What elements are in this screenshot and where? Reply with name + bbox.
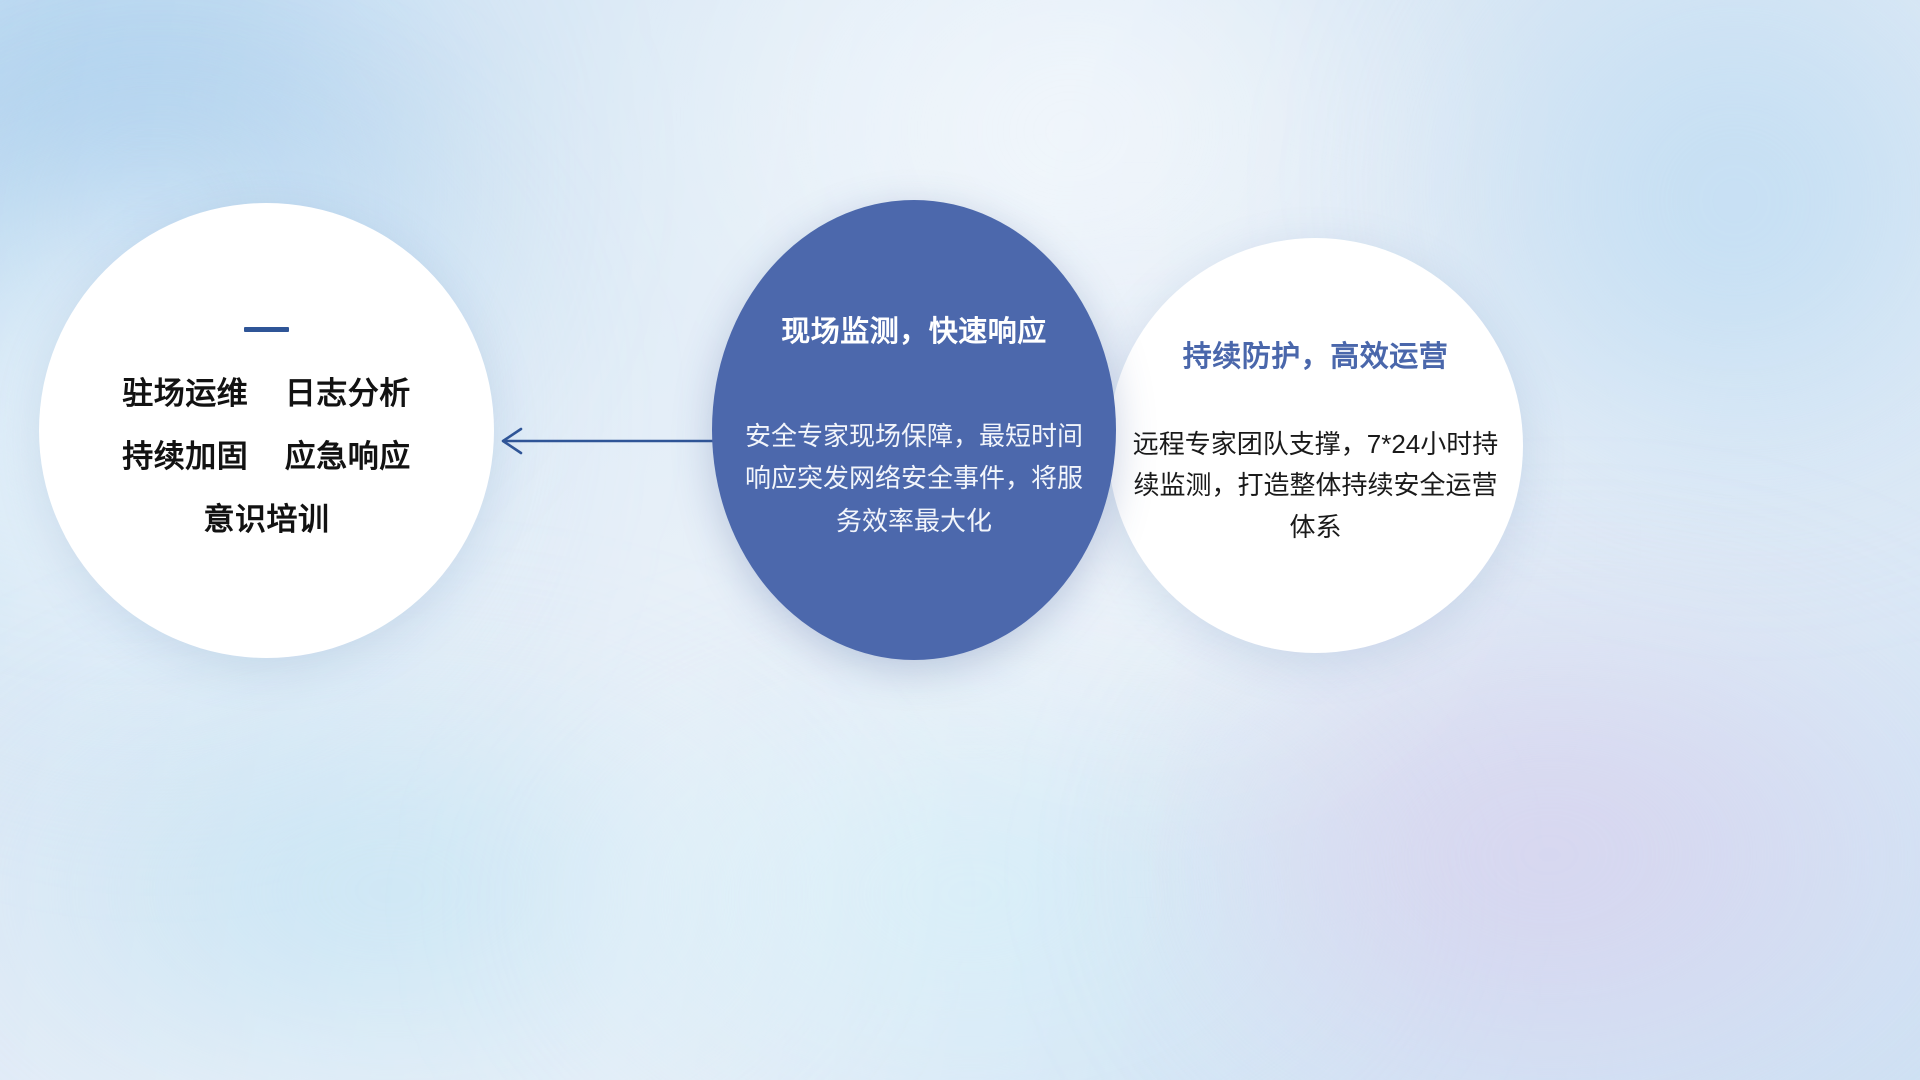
capabilities-content: 驻场运维 日志分析 持续加固 应急响应 意识培训 bbox=[39, 327, 494, 535]
diagram-stage: 驻场运维 日志分析 持续加固 应急响应 意识培训 持续防护，高效运营 远程专家团… bbox=[0, 0, 1920, 1080]
onsite-monitoring-title: 现场监测，快速响应 bbox=[738, 318, 1090, 347]
arrow-left-icon bbox=[488, 418, 718, 464]
continuous-operations-circle[interactable]: 持续防护，高效运营 远程专家团队支撑，7*24小时持续监测，打造整体持续安全运营… bbox=[1108, 238, 1523, 653]
capability-line-1: 驻场运维 日志分析 bbox=[77, 378, 456, 409]
capability-line-3: 意识培训 bbox=[77, 504, 456, 535]
capability-line-2: 持续加固 应急响应 bbox=[77, 441, 456, 472]
continuous-operations-content: 持续防护，高效运营 远程专家团队支撑，7*24小时持续监测，打造整体持续安全运营… bbox=[1108, 343, 1523, 547]
onsite-monitoring-content: 现场监测，快速响应 安全专家现场保障，最短时间响应突发网络安全事件，将服务效率最… bbox=[712, 318, 1116, 541]
capabilities-circle[interactable]: 驻场运维 日志分析 持续加固 应急响应 意识培训 bbox=[39, 203, 494, 658]
onsite-monitoring-body: 安全专家现场保障，最短时间响应突发网络安全事件，将服务效率最大化 bbox=[738, 415, 1090, 541]
onsite-monitoring-circle[interactable]: 现场监测，快速响应 安全专家现场保障，最短时间响应突发网络安全事件，将服务效率最… bbox=[712, 200, 1116, 660]
flow-arrow-container bbox=[488, 418, 718, 464]
continuous-operations-body: 远程专家团队支撑，7*24小时持续监测，打造整体持续安全运营体系 bbox=[1130, 424, 1501, 547]
continuous-operations-title: 持续防护，高效运营 bbox=[1130, 343, 1501, 372]
horizontal-dash-divider-icon bbox=[244, 327, 289, 332]
